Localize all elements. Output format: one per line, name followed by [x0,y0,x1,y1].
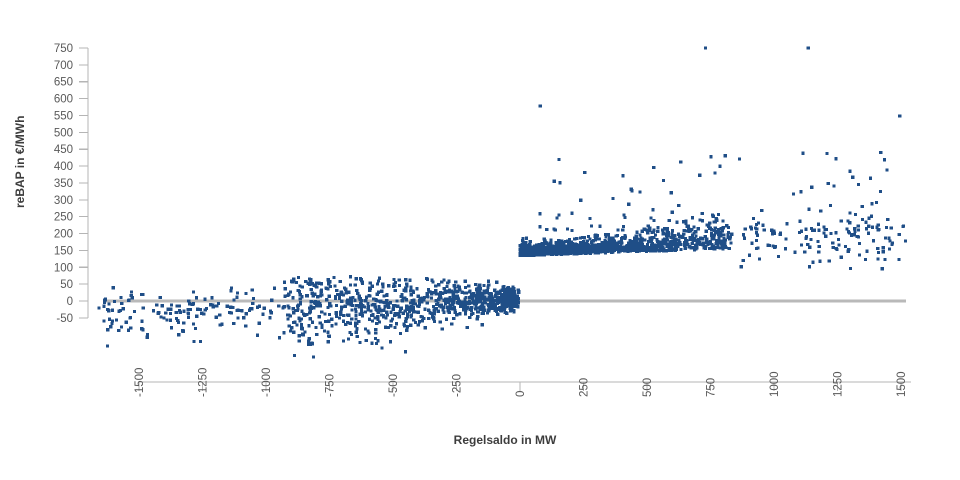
x-tick-label: -1500 [134,368,146,397]
y-tick-label: 350 [54,178,73,190]
y-axis-title: reBAP in €/MWh [13,116,27,208]
y-tick-label: 100 [54,262,73,274]
y-tick-label: 0 [67,296,73,308]
y-tick-label: 300 [54,195,73,207]
y-tick-label: 450 [54,144,73,156]
x-axis-title: Regelsaldo in MW [454,433,557,447]
x-tick-label: 1250 [833,371,845,397]
x-tick-label: -1000 [261,368,273,397]
x-tick-label: 0 [515,391,527,397]
x-tick-label: -250 [452,374,464,397]
x-tick-label: 750 [706,378,718,397]
y-tick-label: 750 [54,43,73,55]
y-axis: -500501001502002503003504004505005506006… [54,43,88,325]
x-tick-label: 1500 [896,371,908,397]
data-points [97,46,907,358]
y-tick-label: 700 [54,60,73,72]
y-tick-label: 600 [54,94,73,106]
x-tick-label: -1250 [198,368,210,397]
y-tick-label: 250 [54,212,73,224]
y-tick-label: 150 [54,245,73,257]
x-tick-label: 250 [579,378,591,397]
y-tick-label: 200 [54,229,73,241]
y-tick-label: 500 [54,127,73,139]
y-tick-label: -50 [56,313,73,325]
y-tick-label: 400 [54,161,73,173]
x-tick-label: 500 [642,378,654,397]
x-axis: -1500-1250-1000-750-500-2500250500750100… [134,368,911,397]
scatter-chart: -500501001502002503003504004505005506006… [0,0,960,480]
y-tick-label: 650 [54,77,73,89]
x-tick-label: -750 [325,374,337,397]
x-tick-label: 1000 [769,371,781,397]
x-tick-label: -500 [388,374,400,397]
y-tick-label: 550 [54,110,73,122]
y-tick-label: 50 [60,279,73,291]
plot-area: -500501001502002503003504004505005506006… [0,0,960,480]
